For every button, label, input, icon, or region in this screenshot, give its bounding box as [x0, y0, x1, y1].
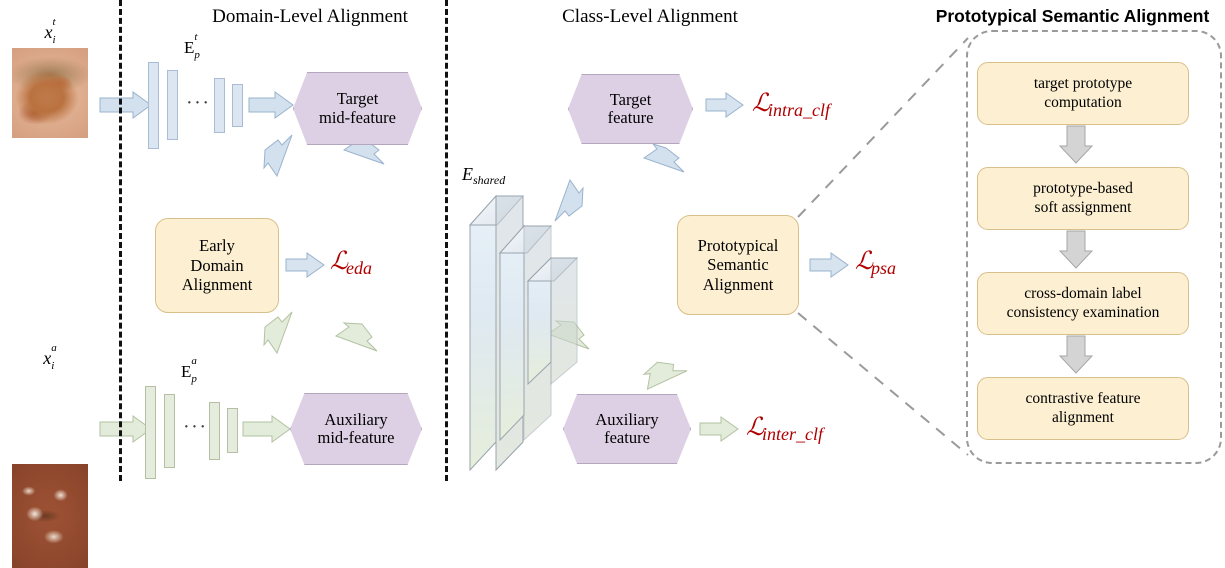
shared-encoder-sub: shared [473, 173, 505, 187]
shared-encoder-3d-blocks [470, 196, 577, 470]
psa-step-2-label: prototype-based soft assignment [1033, 180, 1133, 217]
section-title-domain-level: Domain-Level Alignment [170, 6, 450, 28]
node-auxiliary-feature-label: Auxiliary feature [595, 411, 658, 448]
psa-step-3: cross-domain label consistency examinati… [977, 272, 1189, 335]
psa-step-2: prototype-based soft assignment [977, 167, 1189, 230]
arrow-target-feature-to-psa [644, 144, 684, 172]
loss-intra-clf: ℒintra_clf [752, 88, 832, 118]
node-prototypical-semantic-alignment-label: Prototypical Semantic Alignment [698, 236, 779, 294]
encoder-bar [164, 394, 175, 468]
arrow-auxiliary-midfeature-to-shared [336, 323, 377, 351]
arrow-shared-to-target-feature [555, 180, 583, 221]
target-private-encoder: E t p ··· [146, 56, 256, 156]
divider-right [445, 0, 448, 481]
encoder-bar [148, 62, 159, 149]
encoder-bar [167, 70, 178, 140]
encoder-ellipsis: ··· [183, 416, 207, 439]
target-input-var: x [44, 22, 52, 42]
target-input-sup: t [52, 17, 55, 28]
target-input-label: x t i [0, 22, 100, 45]
auxiliary-encoder-sup: a [191, 356, 197, 367]
node-early-domain-alignment: Early Domain Alignment [155, 218, 279, 313]
loss-psa: ℒpsa [855, 246, 898, 276]
arrow-psa-to-loss [810, 253, 848, 277]
encoder-bar [214, 78, 225, 133]
loss-intra-clf-subscript: intra_clf [768, 100, 830, 120]
auxiliary-input-label: x a i [0, 348, 100, 371]
encoder-bar [145, 386, 156, 479]
target-encoder-var: E [184, 38, 194, 57]
arrow-eda-to-loss [286, 253, 324, 277]
arrow-target-feature-to-intra-loss [706, 93, 743, 117]
arrow-auxiliary-midfeature-to-eda [264, 312, 292, 353]
auxiliary-encoder-sub: p [191, 374, 197, 385]
loss-eda-subscript: eda [346, 258, 372, 278]
node-target-mid-feature: Target mid-feature [293, 72, 422, 145]
section-title-class-level: Class-Level Alignment [510, 6, 790, 28]
target-encoder-label: E t p [184, 38, 200, 60]
encoder-ellipsis: ··· [186, 92, 210, 115]
figure-canvas: Domain-Level Alignment Class-Level Align… [0, 0, 1225, 481]
psa-step-1: target prototype computation [977, 62, 1189, 125]
auxiliary-encoder-label: E a p [181, 362, 197, 384]
psa-step-3-label: cross-domain label consistency examinati… [1007, 285, 1160, 322]
auxiliary-input-sup: a [51, 343, 57, 354]
section-title-psa-detail: Prototypical Semantic Alignment [920, 6, 1225, 27]
auxiliary-skin-lesion-image [12, 464, 88, 568]
node-early-domain-alignment-label: Early Domain Alignment [182, 236, 253, 294]
psa-step-4: contrastive feature alignment [977, 377, 1189, 440]
target-skin-lesion-image [12, 48, 88, 138]
arrow-target-midfeature-to-eda [264, 135, 292, 176]
psa-step-4-label: contrastive feature alignment [1026, 390, 1141, 427]
node-auxiliary-mid-feature-label: Auxiliary mid-feature [318, 411, 395, 448]
psa-step-1-label: target prototype computation [1034, 75, 1132, 112]
node-target-feature: Target feature [568, 74, 693, 144]
arrow-auxiliary-feature-to-inter-loss [700, 417, 738, 441]
loss-inter-clf-subscript: inter_clf [762, 424, 823, 444]
arrow-auxiliary-feature-to-psa [638, 351, 687, 400]
node-prototypical-semantic-alignment: Prototypical Semantic Alignment [677, 215, 799, 315]
target-encoder-sup: t [194, 32, 200, 43]
auxiliary-encoder-var: E [181, 362, 191, 381]
shared-encoder-var: E [462, 164, 473, 184]
shared-encoder-label: Eshared [462, 164, 505, 185]
auxiliary-input-var: x [43, 348, 51, 368]
node-auxiliary-feature: Auxiliary feature [563, 394, 691, 464]
target-encoder-sub: p [194, 50, 200, 61]
node-auxiliary-mid-feature: Auxiliary mid-feature [290, 393, 422, 465]
loss-inter-clf: ℒinter_clf [746, 412, 825, 442]
node-target-mid-feature-label: Target mid-feature [319, 90, 396, 127]
auxiliary-private-encoder: E a p ··· [143, 380, 253, 480]
loss-eda: ℒeda [330, 246, 374, 276]
loss-psa-subscript: psa [871, 258, 896, 278]
encoder-bar [232, 84, 243, 127]
encoder-bar [227, 408, 238, 453]
arrow-shared-to-auxiliary-feature [548, 321, 589, 349]
auxiliary-input-sub: i [51, 361, 57, 372]
arrow-target-image-to-encoder [100, 92, 151, 118]
divider-left [119, 0, 122, 481]
target-input-sub: i [52, 35, 55, 46]
node-target-feature-label: Target feature [608, 91, 654, 128]
encoder-bar [209, 402, 220, 460]
